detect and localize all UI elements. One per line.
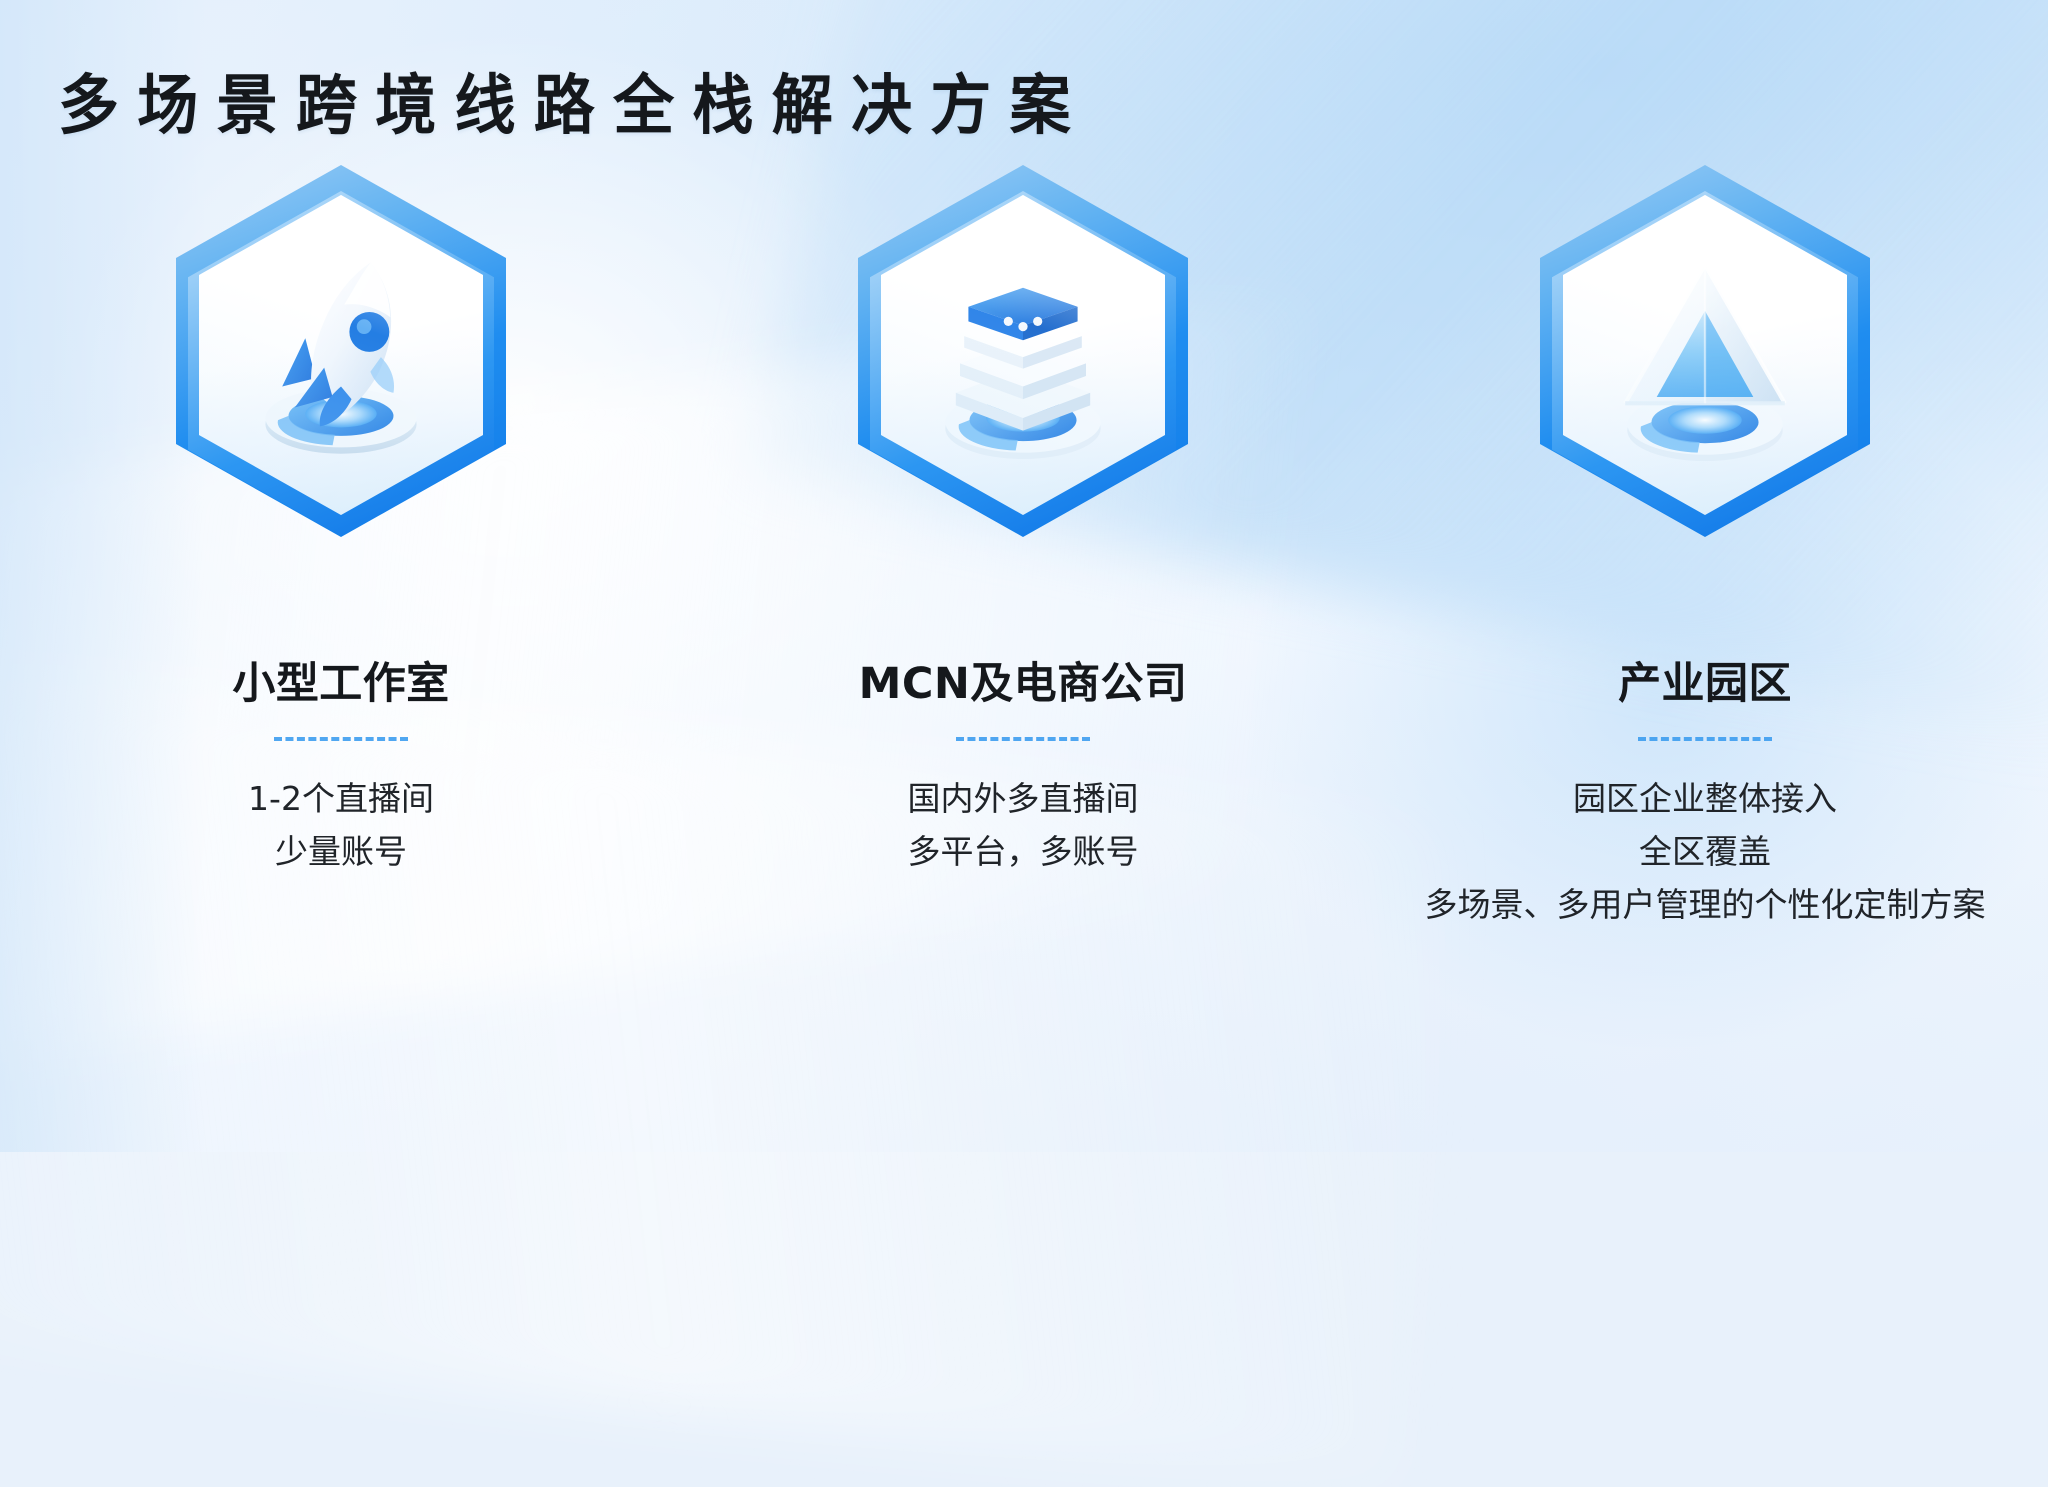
- card-line: 国内外多直播间: [908, 773, 1139, 826]
- dashed-divider: [956, 737, 1090, 741]
- card-line: 全区覆盖: [1425, 826, 1986, 879]
- card-title: MCN及电商公司: [859, 649, 1188, 711]
- slide-root: 多场景跨境线路全栈解决方案: [0, 0, 2048, 1152]
- hexagon-badge: [1495, 165, 1915, 635]
- scenario-card-industrial-park[interactable]: 产业园区 园区企业整体接入 全区覆盖 多场景、多用户管理的个性化定制方案: [1364, 165, 2046, 931]
- card-description: 国内外多直播间 多平台，多账号: [908, 773, 1139, 879]
- card-description: 园区企业整体接入 全区覆盖 多场景、多用户管理的个性化定制方案: [1425, 773, 1986, 931]
- scenario-card-small-studio[interactable]: 小型工作室 1-2个直播间 少量账号: [0, 165, 682, 931]
- card-title: 产业园区: [1618, 649, 1792, 711]
- server-stack-icon: [881, 195, 1165, 515]
- dashed-divider: [1638, 737, 1772, 741]
- card-description: 1-2个直播间 少量账号: [248, 773, 434, 879]
- card-line: 多场景、多用户管理的个性化定制方案: [1425, 879, 1986, 932]
- hexagon-badge: [131, 165, 551, 635]
- card-line: 1-2个直播间: [248, 773, 434, 826]
- scenario-card-mcn-ecommerce[interactable]: MCN及电商公司 国内外多直播间 多平台，多账号: [682, 165, 1364, 931]
- card-line: 多平台，多账号: [908, 826, 1139, 879]
- hexagon-badge: [813, 165, 1233, 635]
- pyramid-icon: [1563, 195, 1847, 515]
- card-line: 少量账号: [248, 826, 434, 879]
- rocket-icon: [199, 195, 483, 515]
- dashed-divider: [274, 737, 408, 741]
- card-row: 小型工作室 1-2个直播间 少量账号: [0, 165, 2048, 931]
- page-title: 多场景跨境线路全栈解决方案: [58, 52, 1089, 146]
- card-line: 园区企业整体接入: [1425, 773, 1986, 826]
- card-title: 小型工作室: [232, 649, 449, 711]
